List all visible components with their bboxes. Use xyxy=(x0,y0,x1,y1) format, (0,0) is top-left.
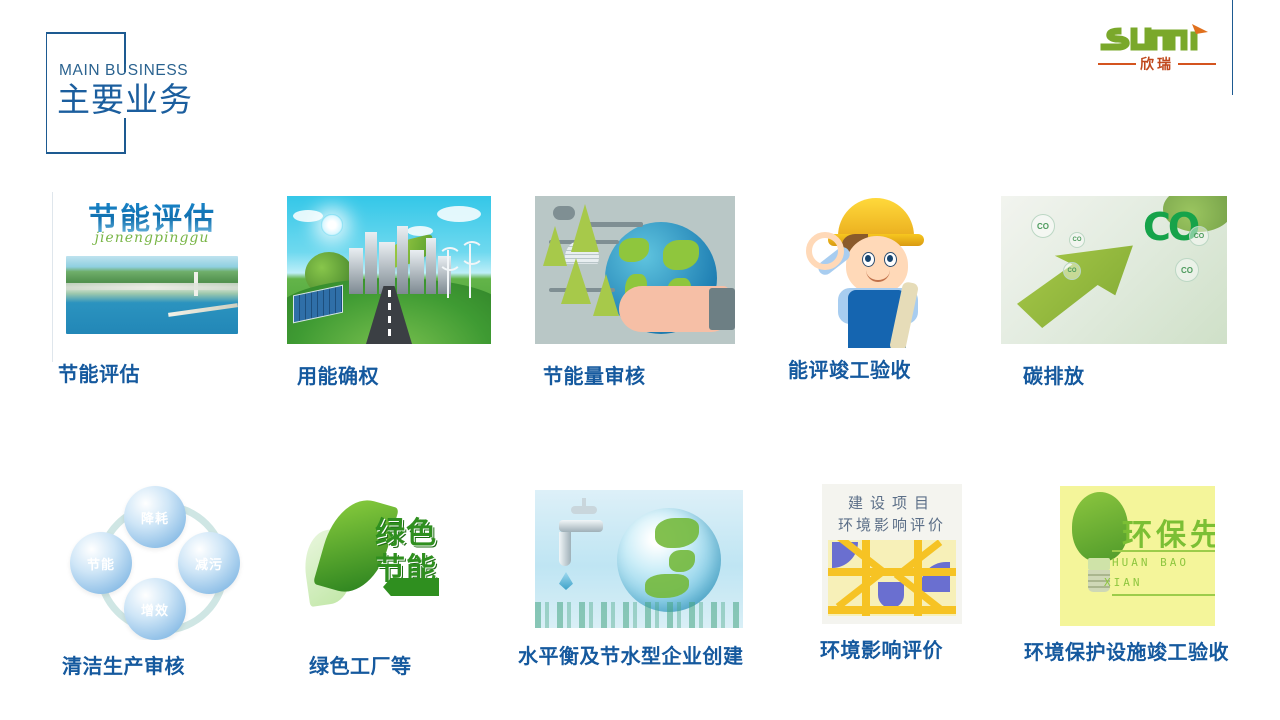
pixel-arrow-shape xyxy=(1017,242,1143,328)
sphere-top: 降耗 xyxy=(124,486,186,548)
sphere-right: 减污 xyxy=(178,532,240,594)
face-shape xyxy=(846,236,908,294)
overall-strap xyxy=(856,290,865,316)
business-card[interactable]: 节能量审核 xyxy=(535,196,735,400)
card-label: 节能量审核 xyxy=(543,360,646,389)
pupil-shape xyxy=(887,255,893,262)
poster-pinyin-line1: HUAN BAO xyxy=(1112,556,1189,569)
landmass-shape xyxy=(663,240,699,270)
poster-rule-top xyxy=(1112,550,1215,552)
co2-bubble: CO xyxy=(1031,214,1055,238)
poster-cn-text: 环保先 xyxy=(1122,510,1215,554)
pine-tree-shape xyxy=(543,226,567,266)
business-card[interactable]: 节能评估 jienengpinggu 节能评估 xyxy=(56,190,248,400)
co2-bubble: CO xyxy=(1189,226,1209,246)
tower-shape xyxy=(194,272,198,296)
cloud-shape xyxy=(293,210,323,222)
riverside-city-photo xyxy=(66,256,238,334)
business-card[interactable]: 环保先 HUAN BAO XIAN 环境保护设施竣工验收 xyxy=(1060,486,1215,680)
pipe-shape xyxy=(583,222,643,227)
recycle-arrow-shape xyxy=(383,578,439,596)
sun-glow xyxy=(321,214,343,236)
cloud-shape xyxy=(437,206,481,222)
business-card[interactable]: 能评竣工验收 xyxy=(786,190,972,400)
chimney-shape xyxy=(553,206,575,220)
card-thumbnail: 节能评估 jienengpinggu xyxy=(56,190,248,345)
card-thumbnail xyxy=(535,490,743,628)
city-skyline-silhouette xyxy=(535,602,743,628)
business-card[interactable]: 建设项目 环境影响评价 环境影响评价 xyxy=(822,484,962,680)
card-label: 碳排放 xyxy=(1023,360,1085,389)
card-label: 清洁生产审核 xyxy=(62,650,185,679)
business-card[interactable]: 绿色 节能 绿色工厂等 xyxy=(297,486,489,680)
sleeve-cuff-shape xyxy=(709,288,735,330)
card-thumbnail xyxy=(786,190,972,348)
card-label: 绿色工厂等 xyxy=(309,650,412,679)
business-card[interactable]: 降耗 节能 减污 增效 清洁生产审核 xyxy=(56,480,256,680)
poster-rule-bottom xyxy=(1112,594,1215,596)
wind-turbine-shape xyxy=(469,244,471,298)
first-card-left-divider xyxy=(52,192,53,362)
co2-bubble: CO xyxy=(1063,262,1081,280)
building-shape xyxy=(426,238,436,294)
pine-tree-shape xyxy=(571,204,599,252)
business-card-grid: 节能评估 jienengpinggu 节能评估 xyxy=(0,0,1280,720)
purple-shape xyxy=(878,582,904,608)
faucet-spout xyxy=(559,532,571,566)
poster-pinyin-text: jienengpinggu xyxy=(64,230,240,246)
card-label: 节能评估 xyxy=(58,358,140,387)
business-card[interactable]: CO CO CO CO CO CO 碳排放 xyxy=(1001,196,1227,400)
building-shape xyxy=(349,248,363,294)
pupil-shape xyxy=(865,255,871,262)
ok-gesture-hand xyxy=(806,232,844,270)
card-label: 用能确权 xyxy=(297,360,379,389)
card-label: 水平衡及节水型企业创建 xyxy=(518,640,744,669)
landmass-shape xyxy=(669,550,695,572)
building-shape xyxy=(410,250,424,294)
co2-bubble: CO xyxy=(1069,232,1085,248)
water-drop-shape xyxy=(559,572,573,590)
bulb-neck-shape xyxy=(1088,558,1110,570)
business-card[interactable]: 水平衡及节水型企业创建 xyxy=(535,490,743,680)
book-title-line2: 环境影响评价 xyxy=(822,514,962,535)
purple-shape xyxy=(920,562,950,592)
card-thumbnail xyxy=(287,196,491,344)
building-shape xyxy=(397,226,408,294)
card-thumbnail xyxy=(535,196,735,344)
poster-pinyin-line2: XIAN xyxy=(1104,576,1143,589)
landmass-shape xyxy=(645,574,689,598)
card-thumbnail: 降耗 节能 减污 增效 xyxy=(56,480,256,640)
sphere-bottom: 增效 xyxy=(124,578,186,640)
card-thumbnail: CO CO CO CO CO CO xyxy=(1001,196,1227,344)
wind-turbine-shape xyxy=(447,250,449,298)
landmass-shape xyxy=(619,238,649,262)
card-thumbnail: 建设项目 环境影响评价 xyxy=(822,484,962,624)
yellow-bar xyxy=(828,568,956,576)
faucet-handle xyxy=(571,506,597,514)
card-label: 环境影响评价 xyxy=(820,634,943,663)
co2-bubble: CO xyxy=(1175,258,1199,282)
card-label: 能评竣工验收 xyxy=(788,354,911,383)
book-title-line1: 建设项目 xyxy=(822,492,962,513)
faucet-body xyxy=(559,520,603,532)
card-label: 环境保护设施竣工验收 xyxy=(1024,636,1229,665)
card-thumbnail: 环保先 HUAN BAO XIAN xyxy=(1060,486,1215,626)
business-card[interactable]: 用能确权 xyxy=(287,196,491,400)
book-cover-artwork xyxy=(828,540,956,616)
landmass-shape xyxy=(655,518,699,548)
building-shape xyxy=(365,232,377,294)
water-globe-shape xyxy=(617,508,721,612)
sphere-left: 节能 xyxy=(70,532,132,594)
bridge-shape xyxy=(168,303,238,317)
card-thumbnail: 绿色 节能 xyxy=(297,486,489,638)
